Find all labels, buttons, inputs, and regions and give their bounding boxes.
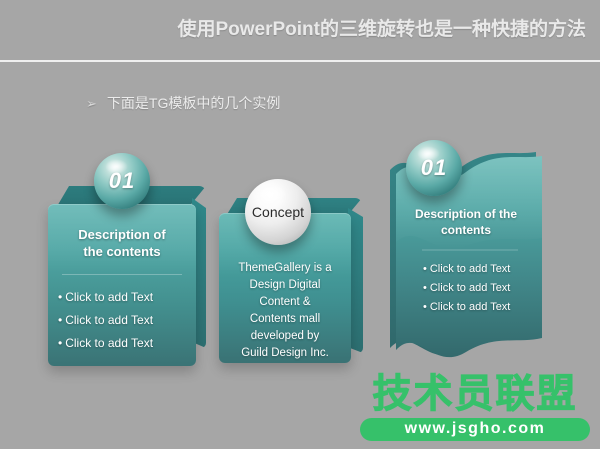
card-3-number-sphere[interactable]: 01 (406, 140, 462, 196)
card-2-body-line-1: ThemeGallery is a (219, 260, 351, 277)
card-2-body-line-3: Content & (219, 294, 351, 311)
card-1-heading: Description of the contents (48, 226, 196, 260)
subtitle-row: ➢ 下面是TG模板中的几个实例 (86, 93, 280, 113)
card-1-heading-line-1: Description of (48, 226, 196, 243)
card-1-number-sphere[interactable]: 01 (94, 153, 150, 209)
subtitle-text: 下面是TG模板中的几个实例 (107, 93, 280, 113)
card-1-divider (62, 274, 182, 275)
slide-canvas: 使用PowerPoint的三维旋转也是一种快捷的方法 ➢ 下面是TG模板中的几个… (0, 0, 600, 449)
watermark: 技术员联盟 www.jsgho.com (360, 374, 590, 441)
card-1-number-label: 01 (109, 168, 135, 194)
card-1-bullet-2[interactable]: Click to add Text (58, 309, 196, 332)
arrow-bullet-icon: ➢ (86, 97, 97, 110)
card-2-body-line-2: Design Digital (219, 277, 351, 294)
card-3[interactable]: Description of the contents Click to add… (386, 146, 546, 371)
card-2[interactable]: ThemeGallery is a Design Digital Content… (219, 198, 364, 363)
card-2-concept-sphere[interactable]: Concept (245, 179, 311, 245)
card-2-concept-label: Concept (252, 204, 304, 220)
card-2-body-line-4: Contents mall (219, 311, 351, 328)
title-divider (0, 60, 600, 62)
watermark-brand: 技术员联盟 (360, 374, 590, 416)
card-1[interactable]: Description of the contents Click to add… (48, 186, 208, 366)
card-3-number-label: 01 (421, 155, 447, 181)
card-1-heading-line-2: the contents (48, 243, 196, 260)
card-1-bullet-3[interactable]: Click to add Text (58, 332, 196, 355)
card-1-front-face: Description of the contents Click to add… (48, 204, 196, 366)
page-title: 使用PowerPoint的三维旋转也是一种快捷的方法 (0, 16, 586, 44)
card-1-bullet-list: Click to add Text Click to add Text Clic… (48, 286, 196, 355)
watermark-url: www.jsgho.com (360, 418, 590, 441)
card-2-body-line-5: developed by (219, 328, 351, 345)
card-2-body-line-6: Guild Design Inc. (219, 345, 351, 362)
card-1-bullet-1[interactable]: Click to add Text (58, 286, 196, 309)
card-2-body: ThemeGallery is a Design Digital Content… (219, 260, 351, 362)
